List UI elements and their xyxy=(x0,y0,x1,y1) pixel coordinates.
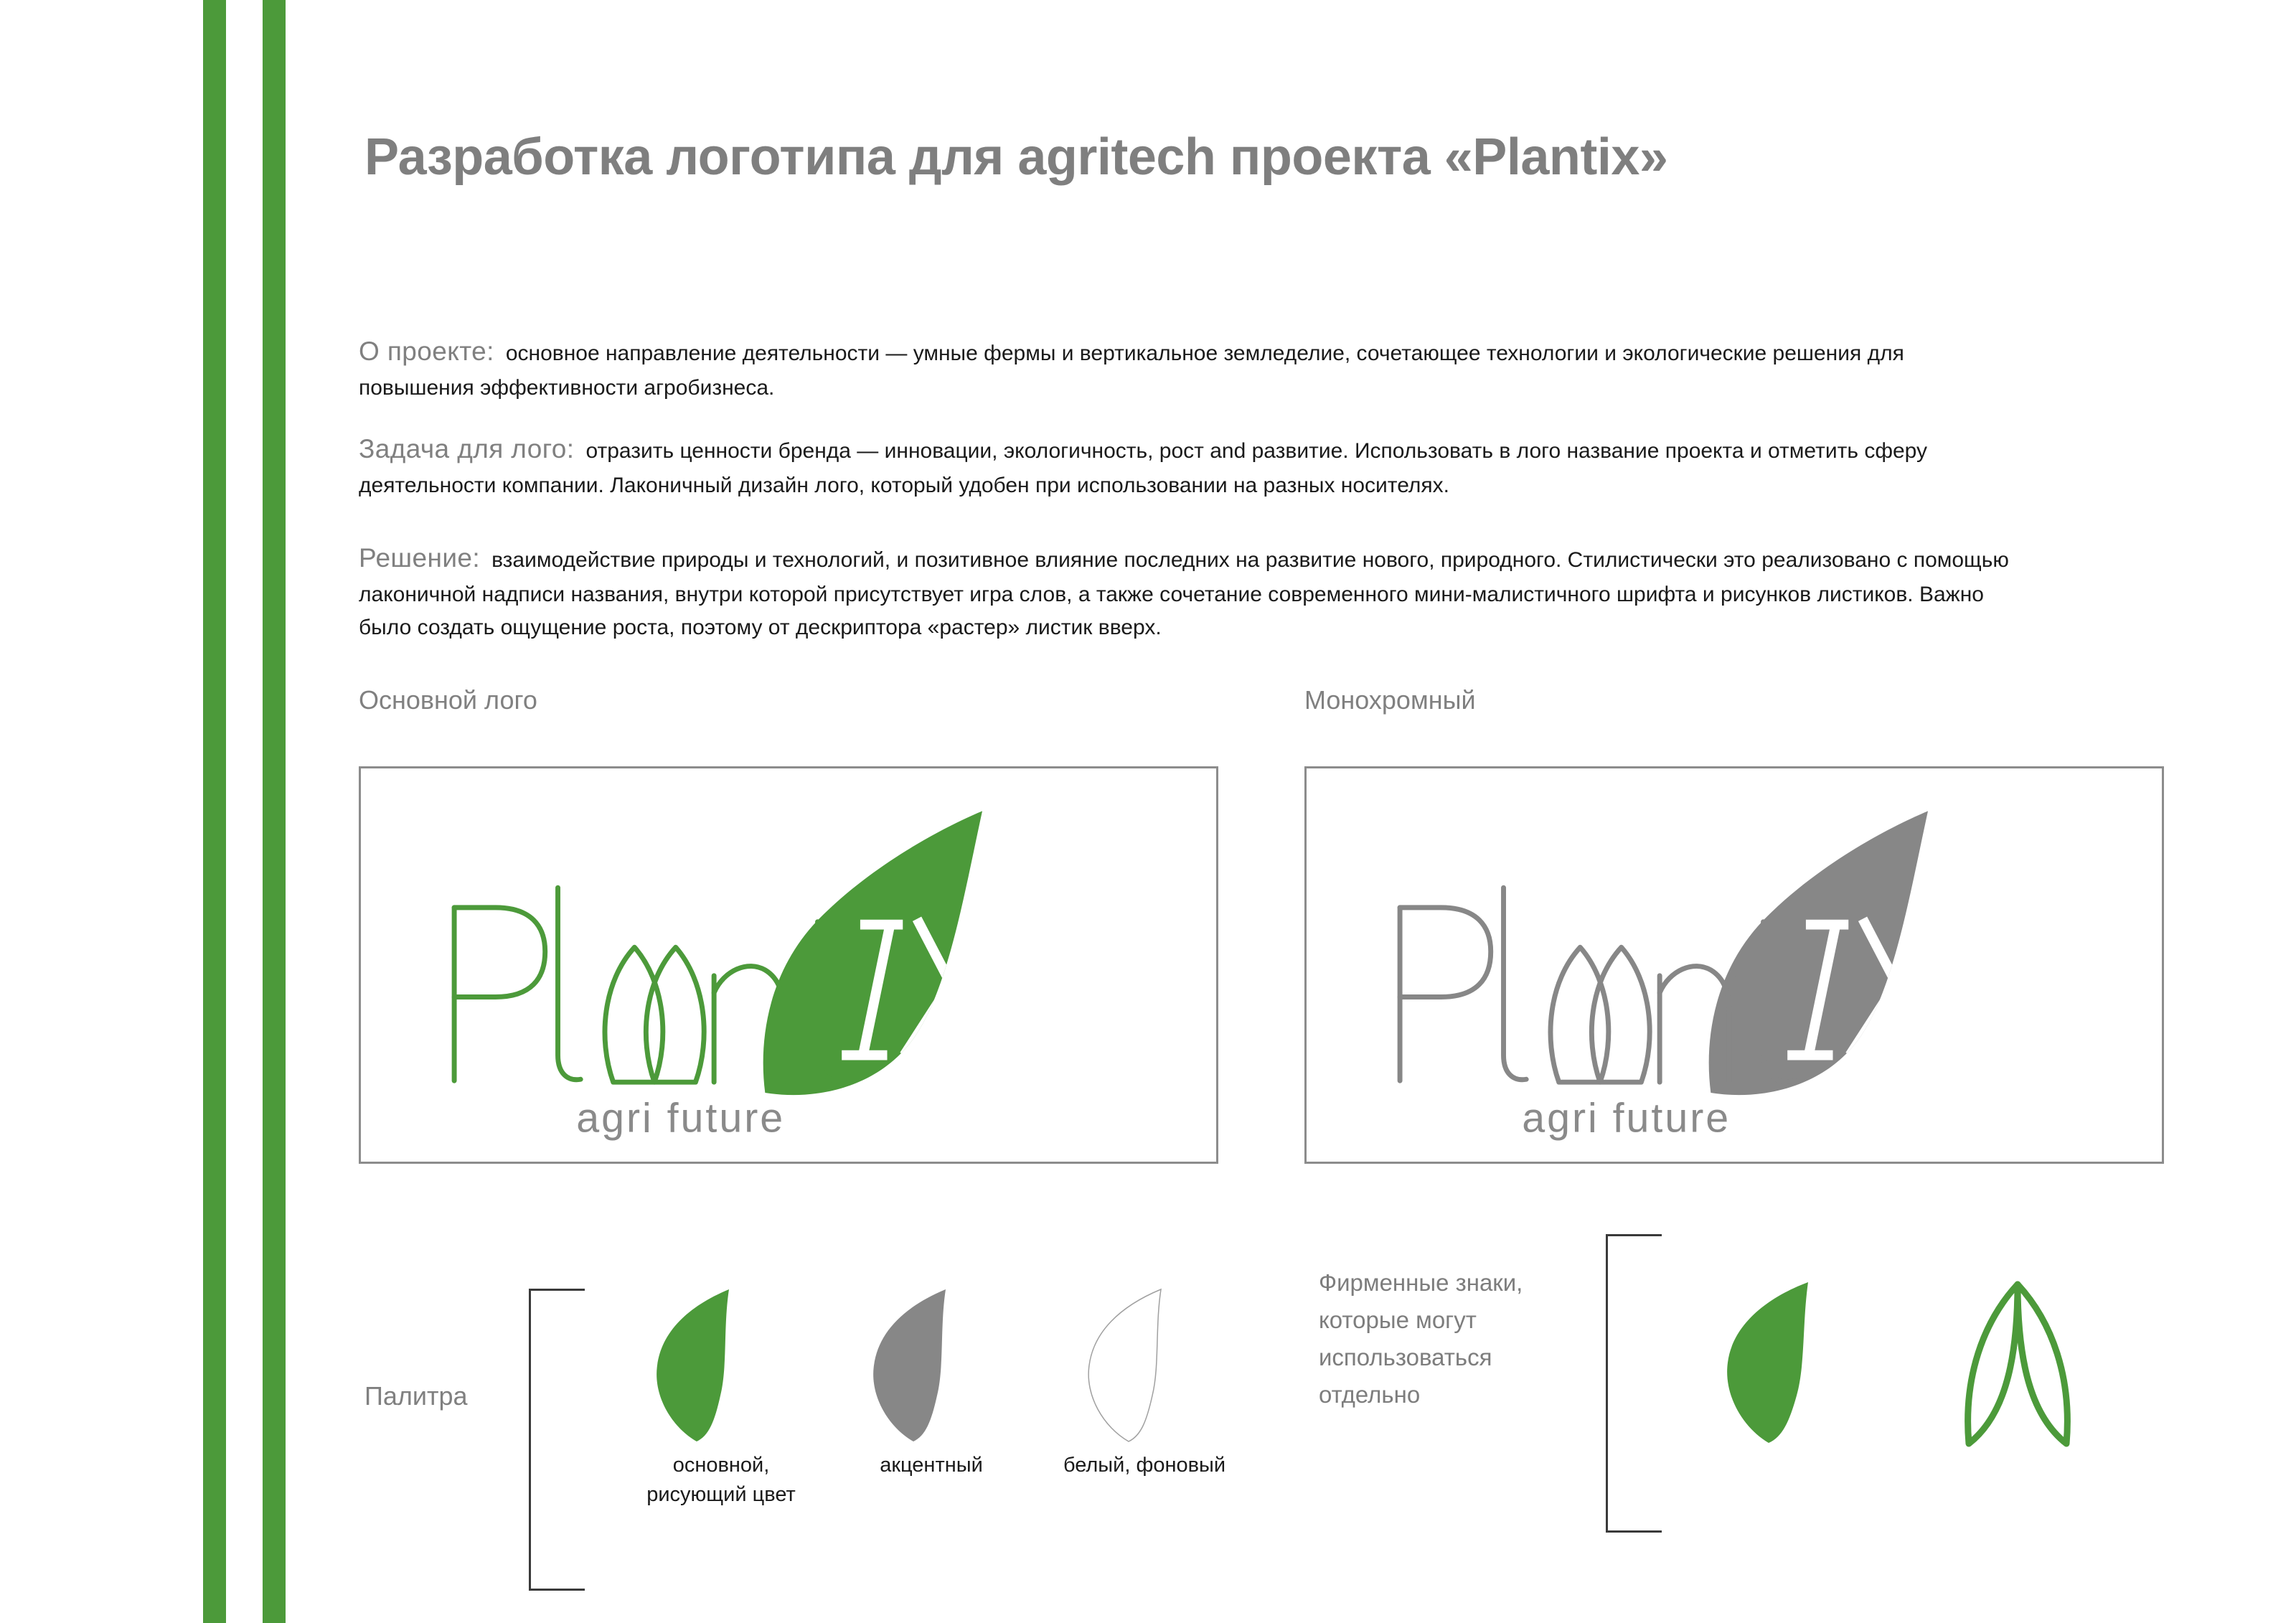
leaf-icon-outline-left xyxy=(1968,1284,2018,1444)
palette-caption-white: белый, фоновый xyxy=(1051,1451,1238,1480)
brand-mark-double-leaf xyxy=(1937,1277,2102,1449)
paragraph-about: О проекте:основное направление деятельно… xyxy=(359,331,2016,405)
logo-descriptor: agri future xyxy=(576,1095,785,1141)
bracket-spine xyxy=(529,1289,531,1591)
leaf-icon-primary xyxy=(657,1289,729,1441)
palette-swatch-accent xyxy=(838,1286,996,1444)
bracket-bottom-arm xyxy=(529,1589,585,1591)
paragraph-solution-lead: Решение: xyxy=(359,543,480,573)
green-accent-bar-2 xyxy=(263,0,286,1623)
paragraph-solution: Решение:взаимодействие природы и техноло… xyxy=(359,538,2016,644)
green-accent-bar-1 xyxy=(203,0,226,1623)
page-title: Разработка логотипа для agritech проекта… xyxy=(364,128,1667,187)
leaf-icon-outline-right xyxy=(2018,1284,2067,1444)
slide-canvas: Разработка логотипа для agritech проекта… xyxy=(0,0,2296,1623)
leaf-icon-solid xyxy=(1727,1282,1808,1443)
paragraph-task-body: отразить ценности бренда — инновации, эк… xyxy=(359,439,1927,497)
main-logo-frame: agri future xyxy=(359,766,1218,1164)
brand-marks-bracket xyxy=(1606,1234,1662,1533)
mono-logo-frame: agri future xyxy=(1304,766,2164,1164)
bracket-spine xyxy=(1606,1234,1608,1533)
mono-logo-artwork: agri future xyxy=(1307,768,2162,1162)
paragraph-task-lead: Задача для лого: xyxy=(359,434,574,464)
caption-mono-logo: Монохромный xyxy=(1304,685,1476,715)
palette-caption-accent: акцентный xyxy=(838,1451,1025,1480)
bracket-top-arm xyxy=(529,1289,585,1291)
palette-label: Палитра xyxy=(364,1381,468,1411)
leaf-icon-accent xyxy=(873,1289,946,1441)
main-logo-artwork: agri future xyxy=(361,768,1216,1162)
palette-bracket xyxy=(529,1289,585,1591)
palette-caption-primary: основной, рисующий цвет xyxy=(628,1451,814,1510)
bracket-bottom-arm xyxy=(1606,1530,1662,1533)
logo-descriptor-mono: agri future xyxy=(1522,1095,1731,1141)
paragraph-about-body: основное направление деятельности — умны… xyxy=(359,342,1904,400)
bracket-top-arm xyxy=(1606,1234,1662,1236)
paragraph-solution-body: взаимодействие природы и технологий, и п… xyxy=(359,548,2009,639)
palette-swatch-white xyxy=(1053,1286,1211,1444)
leaf-icon-white xyxy=(1088,1289,1161,1441)
paragraph-about-lead: О проекте: xyxy=(359,337,494,366)
palette-swatch-primary xyxy=(621,1286,779,1444)
paragraph-task: Задача для лого:отразить ценности бренда… xyxy=(359,429,2016,502)
brand-mark-solid-leaf xyxy=(1700,1281,1851,1446)
brand-marks-label: Фирменные знаки, которые могут использов… xyxy=(1319,1264,1556,1414)
caption-main-logo: Основной лого xyxy=(359,685,537,715)
